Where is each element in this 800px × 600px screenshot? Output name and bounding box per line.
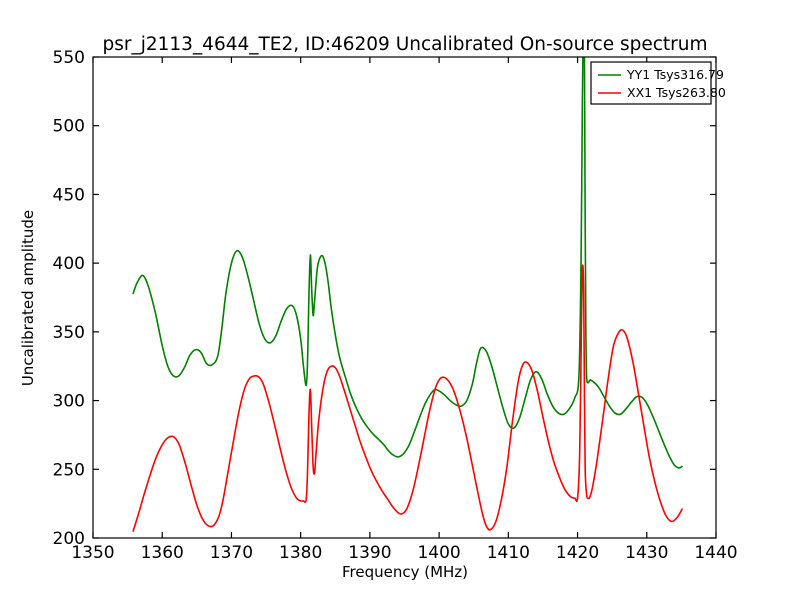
spectrum-plot: psr_j2113_4644_TE2, ID:46209 Uncalibrate… — [0, 0, 800, 600]
y-tick-label: 350 — [53, 323, 85, 343]
x-tick-label: 1390 — [348, 543, 391, 563]
x-tick-label: 1370 — [210, 543, 253, 563]
y-tick-label: 500 — [53, 117, 85, 137]
x-tick-label: 1380 — [279, 543, 322, 563]
y-tick-label: 550 — [53, 48, 85, 68]
figure-canvas: psr_j2113_4644_TE2, ID:46209 Uncalibrate… — [0, 0, 800, 600]
x-tick-label: 1430 — [625, 543, 668, 563]
y-tick-label: 450 — [53, 185, 85, 205]
x-tick-label: 1360 — [141, 543, 184, 563]
y-tick-label: 250 — [53, 460, 85, 480]
y-tick-label: 300 — [53, 392, 85, 412]
legend-label-2: XX1 Tsys263.80 — [627, 85, 726, 100]
page-title: psr_j2113_4644_TE2, ID:46209 Uncalibrate… — [102, 34, 707, 55]
y-tick-label: 400 — [53, 254, 85, 274]
legend-label-1: YY1 Tsys316.79 — [626, 67, 724, 82]
x-tick-label: 1420 — [556, 543, 599, 563]
legend: YY1 Tsys316.79XX1 Tsys263.80 — [591, 62, 726, 104]
x-tick-label: 1440 — [694, 543, 737, 563]
x-tick-label: 1400 — [417, 543, 460, 563]
x-tick-label: 1410 — [487, 543, 530, 563]
y-axis-label: Uncalibrated amplitude — [19, 210, 37, 386]
y-tick-label: 200 — [53, 529, 85, 549]
x-axis-label: Frequency (MHz) — [342, 563, 468, 581]
